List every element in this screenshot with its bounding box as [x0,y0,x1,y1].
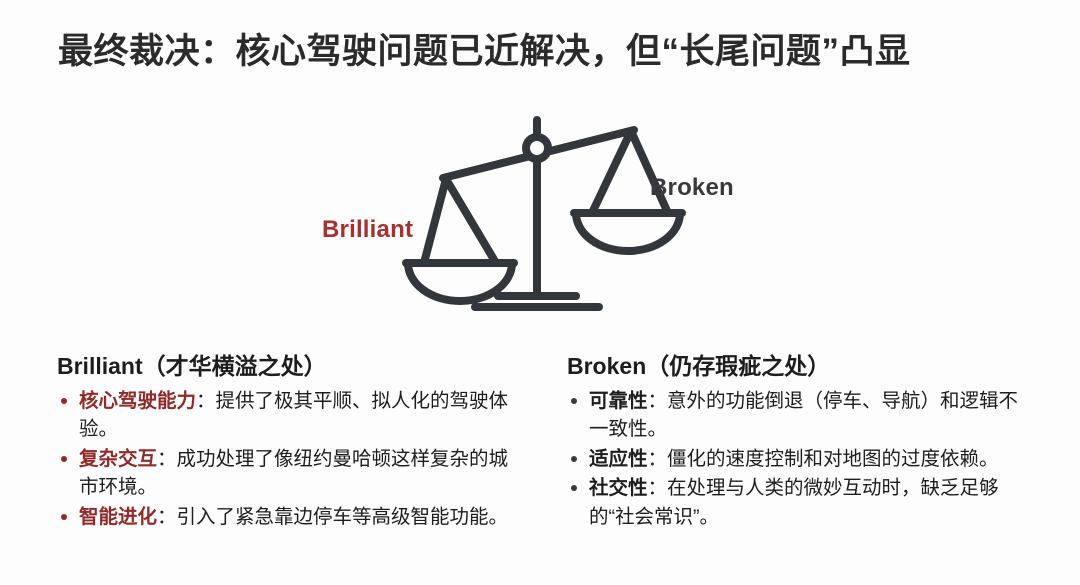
bullet-term: 复杂交互 [79,448,157,470]
list-item: 社交性：在处理与人类的微妙互动时，缺乏足够的“社会常识”。 [567,474,1037,531]
bullet-term: 可靠性 [589,390,648,412]
list-item: 适应性：僵化的速度控制和对地图的过度依赖。 [567,445,1037,473]
list-item: 核心驾驶能力：提供了极其平顺、拟人化的驾驶体验。 [57,387,527,444]
list-item: 复杂交互：成功处理了像纽约曼哈顿这样复杂的城市环境。 [57,445,527,502]
column-heading-broken: Broken（仍存瑕疵之处） [567,352,1037,382]
bullet-text: ：意外的功能倒退（停车、导航）和逻辑不一致性。 [589,390,1018,440]
balance-scale-illustration: Brilliant Broken [300,100,800,330]
bullet-term: 适应性 [589,448,648,470]
scale-label-brilliant: Brilliant [322,216,413,244]
column-brilliant: Brilliant（才华横溢之处） 核心驾驶能力：提供了极其平顺、拟人化的驾驶体… [57,352,527,532]
column-broken: Broken（仍存瑕疵之处） 可靠性：意外的功能倒退（停车、导航）和逻辑不一致性… [567,352,1037,532]
scale-label-broken: Broken [650,174,734,202]
page-title: 最终裁决：核心驾驶问题已近解决，但“长尾问题”凸显 [58,30,1048,74]
bullet-term: 社交性 [589,477,648,499]
bullet-term: 核心驾驶能力 [79,390,196,412]
list-item: 智能进化：引入了紧急靠边停车等高级智能功能。 [57,503,527,531]
list-item: 可靠性：意外的功能倒退（停车、导航）和逻辑不一致性。 [567,387,1037,444]
pivot-ring-icon [526,137,548,159]
bullet-list-broken: 可靠性：意外的功能倒退（停车、导航）和逻辑不一致性。 适应性：僵化的速度控制和对… [567,387,1037,531]
bullet-text: ：引入了紧急靠边停车等高级智能功能。 [157,506,508,528]
slide-root: 最终裁决：核心驾驶问题已近解决，但“长尾问题”凸显 [0,0,1080,585]
bullet-text: ：僵化的速度控制和对地图的过度依赖。 [648,448,999,470]
bullet-list-brilliant: 核心驾驶能力：提供了极其平顺、拟人化的驾驶体验。 复杂交互：成功处理了像纽约曼哈… [57,387,527,531]
column-heading-brilliant: Brilliant（才华横溢之处） [57,352,527,382]
bullet-text: ：在处理与人类的微妙互动时，缺乏足够的“社会常识”。 [589,477,999,527]
balance-scale-icon [300,100,800,330]
bullet-term: 智能进化 [79,506,157,528]
